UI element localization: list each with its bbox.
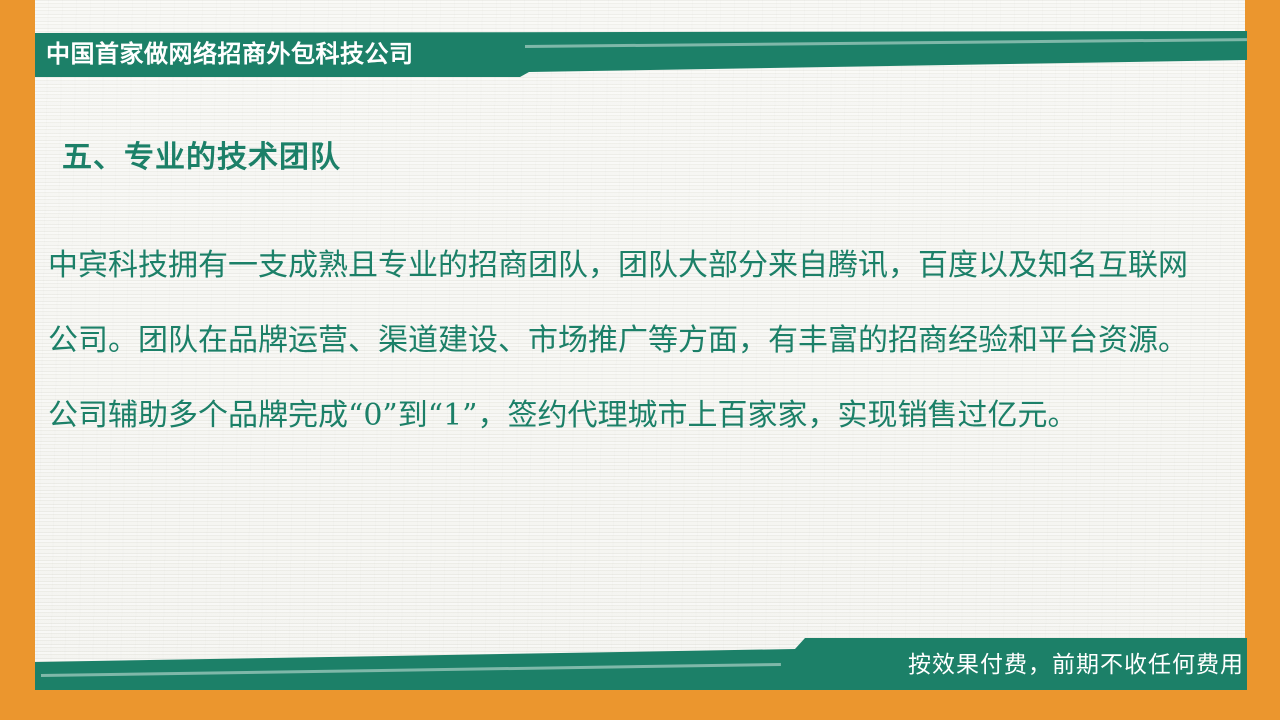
slide-canvas: 中国首家做网络招商外包科技公司 五、专业的技术团队 中宾科技拥有一支成熟且专业的… (0, 0, 1280, 720)
header-title: 中国首家做网络招商外包科技公司 (46, 31, 414, 77)
section-heading: 五、专业的技术团队 (62, 132, 341, 176)
body-paragraph: 中宾科技拥有一支成熟且专业的招商团队，团队大部分来自腾讯，百度以及知名互联网公司… (48, 228, 1188, 453)
footer-tagline: 按效果付费，前期不收任何费用 (908, 638, 1244, 690)
body-paragraph-block: 中宾科技拥有一支成熟且专业的招商团队，团队大部分来自腾讯，百度以及知名互联网公司… (48, 228, 1188, 453)
